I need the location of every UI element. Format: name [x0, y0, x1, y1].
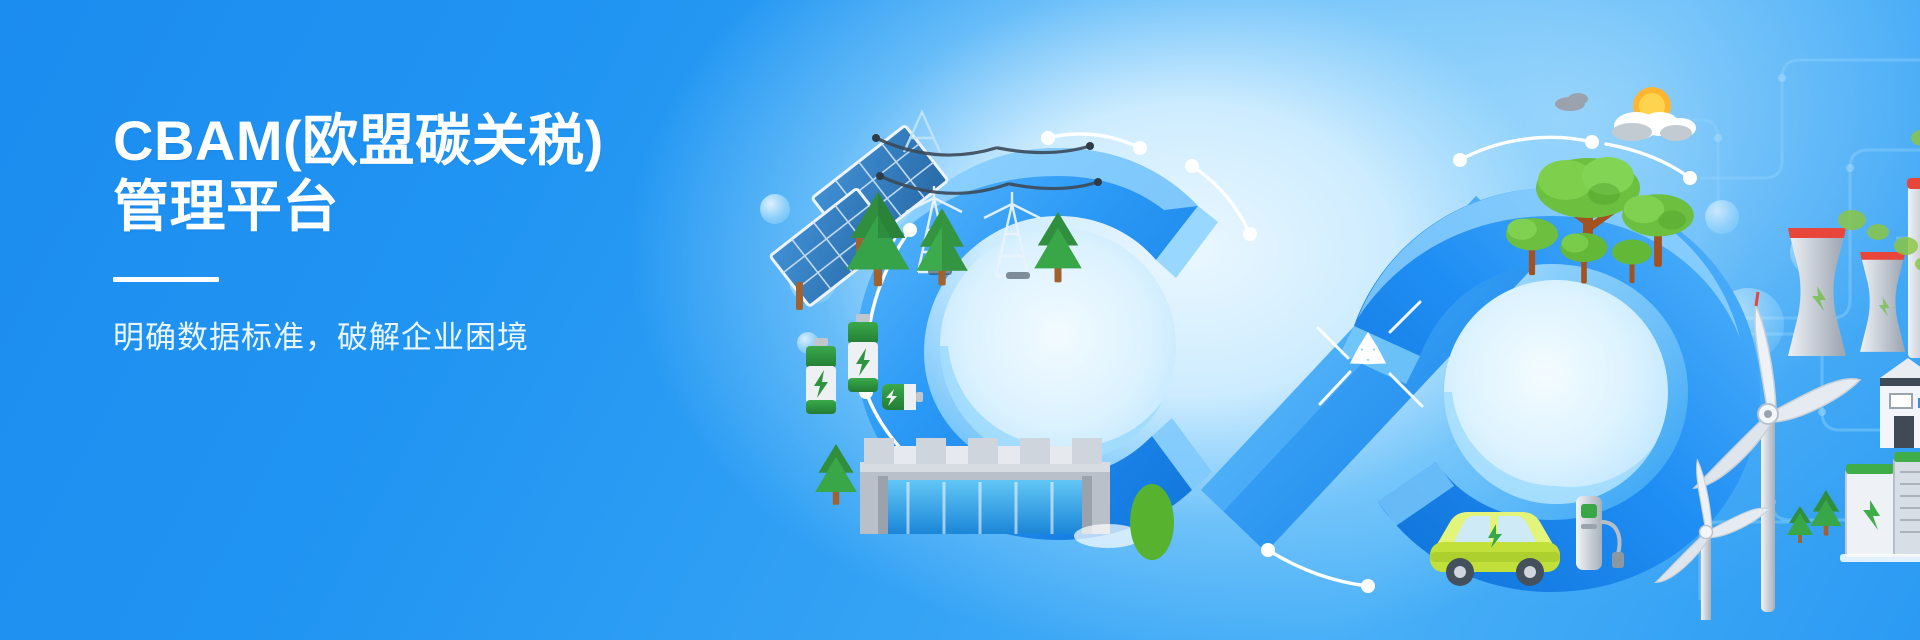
smokestack — [1907, 178, 1920, 362]
cbam-hero-banner: CBAM(欧盟碳关税) 管理平台 明确数据标准，破解企业困境 — [0, 0, 1920, 640]
cooling-tower — [1788, 228, 1905, 356]
carbon-neutral-illustration — [760, 20, 1920, 620]
pine-tree — [1810, 490, 1841, 536]
page-title: CBAM(欧盟碳关税) — [113, 108, 833, 174]
factory-building — [1880, 358, 1920, 448]
pine-tree — [1787, 506, 1813, 543]
battery-storage-cabinet — [1840, 452, 1920, 562]
page-title-line2: 管理平台 — [113, 174, 833, 240]
title-divider — [113, 277, 219, 282]
hero-copy: CBAM(欧盟碳关税) 管理平台 明确数据标准，破解企业困境 — [113, 108, 833, 358]
hero-subtitle: 明确数据标准，破解企业困境 — [113, 318, 833, 358]
hydro-dam — [860, 438, 1142, 548]
grass-mound — [1130, 484, 1174, 560]
pine-tree — [815, 444, 857, 505]
smoke-puff — [1838, 130, 1920, 271]
cloud-icon — [1555, 93, 1696, 141]
